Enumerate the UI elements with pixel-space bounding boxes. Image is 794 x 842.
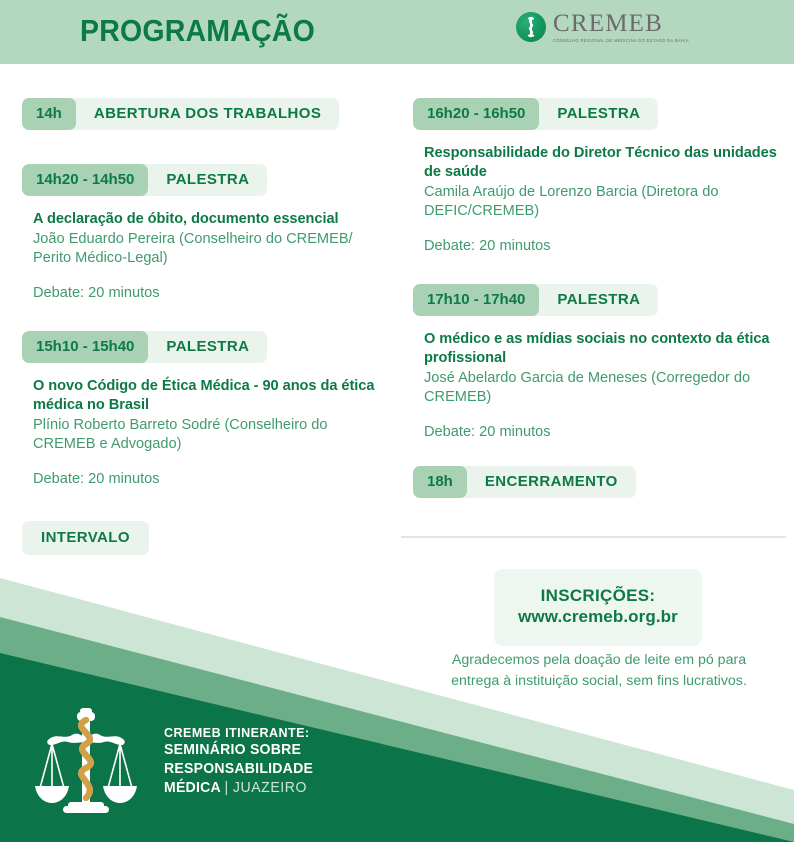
session-debate: Debate: 20 minutos	[33, 471, 392, 487]
schedule-item: 14h ABERTURA DOS TRABALHOS	[22, 98, 392, 130]
session-title: A declaração de óbito, documento essenci…	[33, 210, 392, 229]
interval-badge: INTERVALO	[22, 521, 149, 555]
session-debate: Debate: 20 minutos	[424, 424, 785, 440]
cremeb-logo: CREMEB CONSELHO REGIONAL DE MEDICINA DO …	[516, 11, 686, 43]
schedule-column-left: 14h ABERTURA DOS TRABALHOS 14h20 - 14h50…	[22, 98, 392, 555]
donation-notice-line2: entrega à instituição social, sem fins l…	[413, 671, 785, 692]
session-details: O novo Código de Ética Médica - 90 anos …	[33, 377, 392, 487]
session-title: Responsabilidade do Diretor Técnico das …	[424, 144, 785, 182]
session-type-badge: PALESTRA	[148, 164, 267, 196]
registration-url[interactable]: www.cremeb.org.br	[504, 606, 692, 628]
closing-badge: 18h ENCERRAMENTO	[413, 466, 636, 498]
session-debate: Debate: 20 minutos	[33, 285, 392, 301]
time-label-badge: 14h20 - 14h50 PALESTRA	[22, 164, 267, 196]
footer-separator: |	[225, 780, 229, 796]
section-divider	[401, 536, 786, 538]
footer-city: JUAZEIRO	[233, 780, 307, 796]
spacer	[413, 440, 785, 466]
session-type-badge: ENCERRAMENTO	[467, 466, 636, 498]
cremeb-wordmark: CREMEB CONSELHO REGIONAL DE MEDICINA DO …	[553, 11, 686, 43]
schedule-item: 17h10 - 17h40 PALESTRA O médico e as míd…	[413, 284, 785, 440]
session-debate: Debate: 20 minutos	[424, 238, 785, 254]
footer-line-4: MÉDICA | JUAZEIRO	[164, 779, 313, 798]
footer-line-4-main: MÉDICA	[164, 780, 220, 796]
session-speaker: Plínio Roberto Barreto Sodré (Conselheir…	[33, 416, 392, 454]
asclepius-rod-circle-icon	[516, 12, 546, 42]
poster-footer: CREMEB ITINERANTE: SEMINÁRIO SOBRE RESPO…	[30, 706, 321, 816]
schedule-column-right: 16h20 - 16h50 PALESTRA Responsabilidade …	[413, 98, 785, 498]
scales-of-justice-asclepius-icon	[30, 706, 142, 816]
time-label-badge: 15h10 - 15h40 PALESTRA	[22, 331, 267, 363]
session-speaker: João Eduardo Pereira (Conselheiro do CRE…	[33, 230, 392, 268]
registration-heading: INSCRIÇÕES:	[504, 585, 692, 606]
donation-notice: Agradecemos pela doação de leite em pó p…	[413, 650, 785, 691]
session-type-badge: ABERTURA DOS TRABALHOS	[76, 98, 339, 130]
session-type-badge: PALESTRA	[148, 331, 267, 363]
schedule-item: 14h20 - 14h50 PALESTRA A declaração de ó…	[22, 164, 392, 301]
footer-event-title: CREMEB ITINERANTE: SEMINÁRIO SOBRE RESPO…	[164, 724, 313, 799]
session-details: Responsabilidade do Diretor Técnico das …	[424, 144, 785, 254]
poster-header: PROGRAMAÇÃO CREMEB CONSELHO REGIONAL DE …	[0, 0, 794, 64]
session-speaker: José Abelardo Garcia de Meneses (Correge…	[424, 369, 785, 407]
time-badge: 16h20 - 16h50	[413, 98, 539, 130]
session-speaker: Camila Araújo de Lorenzo Barcia (Diretor…	[424, 183, 785, 221]
session-title: O médico e as mídias sociais no contexto…	[424, 330, 785, 368]
schedule-item: 16h20 - 16h50 PALESTRA Responsabilidade …	[413, 98, 785, 254]
time-badge: 15h10 - 15h40	[22, 331, 148, 363]
spacer	[22, 487, 392, 521]
footer-line-2: SEMINÁRIO SOBRE	[164, 741, 313, 760]
time-badge: 14h	[22, 98, 76, 130]
time-label-badge: 14h ABERTURA DOS TRABALHOS	[22, 98, 339, 130]
session-type-badge: PALESTRA	[539, 284, 658, 316]
schedule-item: 15h10 - 15h40 PALESTRA O novo Código de …	[22, 331, 392, 487]
registration-box[interactable]: INSCRIÇÕES: www.cremeb.org.br	[494, 569, 702, 646]
session-type-badge: PALESTRA	[539, 98, 658, 130]
footer-line-1: CREMEB ITINERANTE:	[164, 724, 313, 741]
spacer	[22, 301, 392, 331]
brand-name: CREMEB	[553, 11, 686, 36]
time-label-badge: 16h20 - 16h50 PALESTRA	[413, 98, 658, 130]
donation-notice-line1: Agradecemos pela doação de leite em pó p…	[413, 650, 785, 671]
event-schedule-poster: PROGRAMAÇÃO CREMEB CONSELHO REGIONAL DE …	[0, 0, 794, 842]
page-title: PROGRAMAÇÃO	[80, 13, 315, 49]
time-label-badge: 17h10 - 17h40 PALESTRA	[413, 284, 658, 316]
time-badge: 17h10 - 17h40	[413, 284, 539, 316]
spacer	[22, 130, 392, 164]
session-details: A declaração de óbito, documento essenci…	[33, 210, 392, 301]
session-details: O médico e as mídias sociais no contexto…	[424, 330, 785, 440]
time-badge: 14h20 - 14h50	[22, 164, 148, 196]
asclepius-rod-glyph	[522, 16, 540, 38]
session-title: O novo Código de Ética Médica - 90 anos …	[33, 377, 392, 415]
footer-line-3: RESPONSABILIDADE	[164, 760, 313, 779]
spacer	[413, 254, 785, 284]
brand-subtitle: CONSELHO REGIONAL DE MEDICINA DO ESTADO …	[553, 39, 689, 43]
time-badge: 18h	[413, 466, 467, 498]
